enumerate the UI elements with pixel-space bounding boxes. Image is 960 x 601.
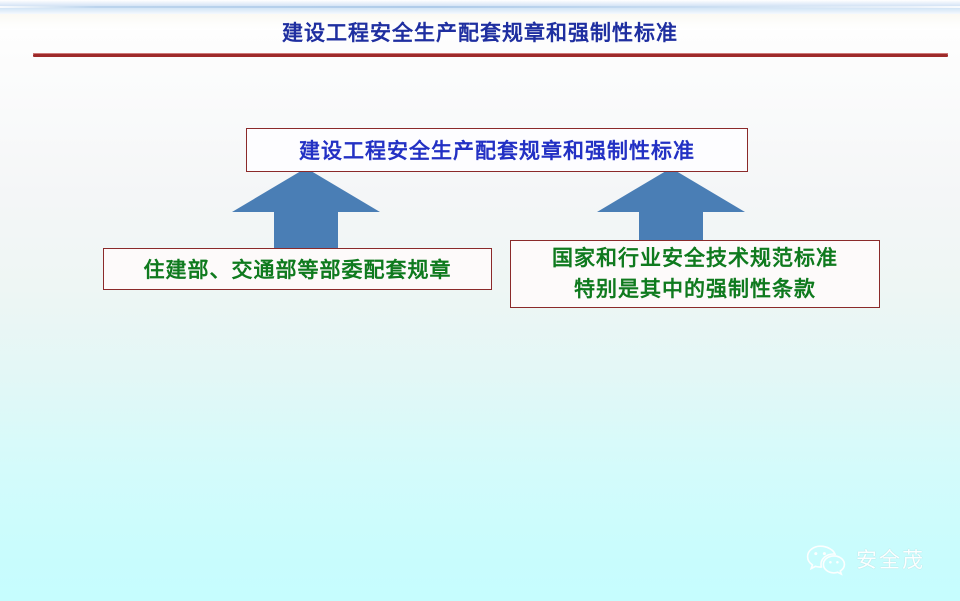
wechat-icon <box>806 544 846 576</box>
right-up-arrow-icon <box>593 168 749 246</box>
diagram-node-left: 住建部、交通部等部委配套规章 <box>103 248 492 290</box>
banner-stripe <box>0 6 960 8</box>
title-divider <box>33 54 948 57</box>
watermark: 安全茂 <box>806 540 954 580</box>
slide-canvas: 建设工程安全生产配套规章和强制性标准 建设工程安全生产配套规章和强制性标准 住建… <box>0 0 960 601</box>
page-title: 建设工程安全生产配套规章和强制性标准 <box>0 18 960 48</box>
watermark-label: 安全茂 <box>856 550 925 571</box>
left-up-arrow-icon <box>228 168 384 254</box>
diagram-node-top: 建设工程安全生产配套规章和强制性标准 <box>246 128 748 172</box>
diagram-node-right: 国家和行业安全技术规范标准 特别是其中的强制性条款 <box>510 240 880 308</box>
